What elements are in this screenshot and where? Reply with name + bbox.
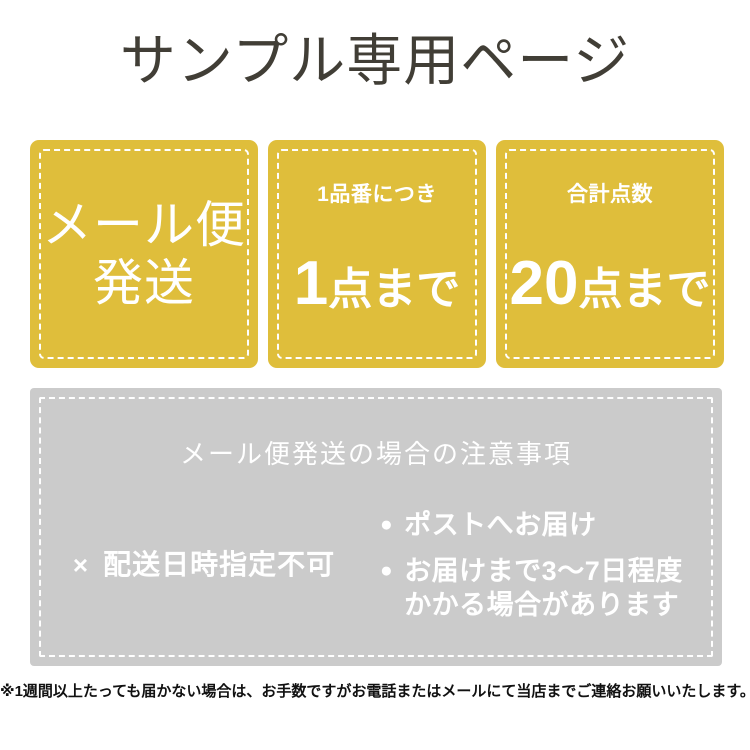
card-per-item-limit-value: 1 点まで [294,253,460,321]
notice-bullet-item: ● ポストへお届け [380,508,722,542]
page-title: サンプル専用ページ [0,28,750,94]
card-total-limit-suffix: 点まで [578,259,710,321]
notice-title: メール便発送の場合の注意事項 [30,438,722,470]
notice-bullet-item: ● お届けまで3〜7日程度 かかる場合があります [380,554,722,622]
footnote: ※1週間以上たっても届かない場合は、お手数ですがお電話またはメールにて当店までご… [0,682,750,702]
card-shipping-method-line2: 発送 [42,254,246,312]
card-shipping-method-line1: メール便 [42,196,246,254]
cross-mark-icon: × [73,548,89,582]
card-per-item-limit: 1品番につき 1 点まで [268,140,486,368]
bullet-dot-icon: ● [380,554,393,588]
card-per-item-limit-number: 1 [294,253,328,315]
notice-no-delivery-date-label: 配送日時指定不可 [103,548,335,582]
card-total-limit-value: 20 点まで [510,253,711,321]
notice-no-delivery-date: × 配送日時指定不可 [30,548,378,582]
bullet-dot-icon: ● [380,508,393,542]
notice-bullet-text: ポストへお届け [404,508,597,542]
card-shipping-method: メール便 発送 [30,140,258,368]
notice-bullet-line2: かかる場合があります [404,588,683,622]
card-shipping-method-text: メール便 発送 [42,196,246,312]
card-total-limit-number: 20 [510,253,579,315]
sample-page: サンプル専用ページ メール便 発送 1品番につき 1 点まで 合計点数 20 点… [0,0,750,750]
notice-body: × 配送日時指定不可 ● ポストへお届け ● お届けまで3〜7日程度 かかる場合… [30,500,722,630]
notice-bullet-text: お届けまで3〜7日程度 かかる場合があります [404,554,683,622]
shipping-cards: メール便 発送 1品番につき 1 点まで 合計点数 20 点まで [30,140,722,368]
notice-bullet-list: ● ポストへお届け ● お届けまで3〜7日程度 かかる場合があります [378,508,722,622]
notice-bullet-line1: お届けまで3〜7日程度 [404,556,683,586]
card-per-item-limit-suffix: 点まで [328,259,460,321]
card-total-limit-label: 合計点数 [567,183,653,207]
notice-bullet-line1: ポストへお届け [404,510,597,540]
card-per-item-limit-label: 1品番につき [317,183,437,207]
card-total-limit: 合計点数 20 点まで [496,140,724,368]
notice-box: メール便発送の場合の注意事項 × 配送日時指定不可 ● ポストへお届け ● お届… [30,388,722,666]
